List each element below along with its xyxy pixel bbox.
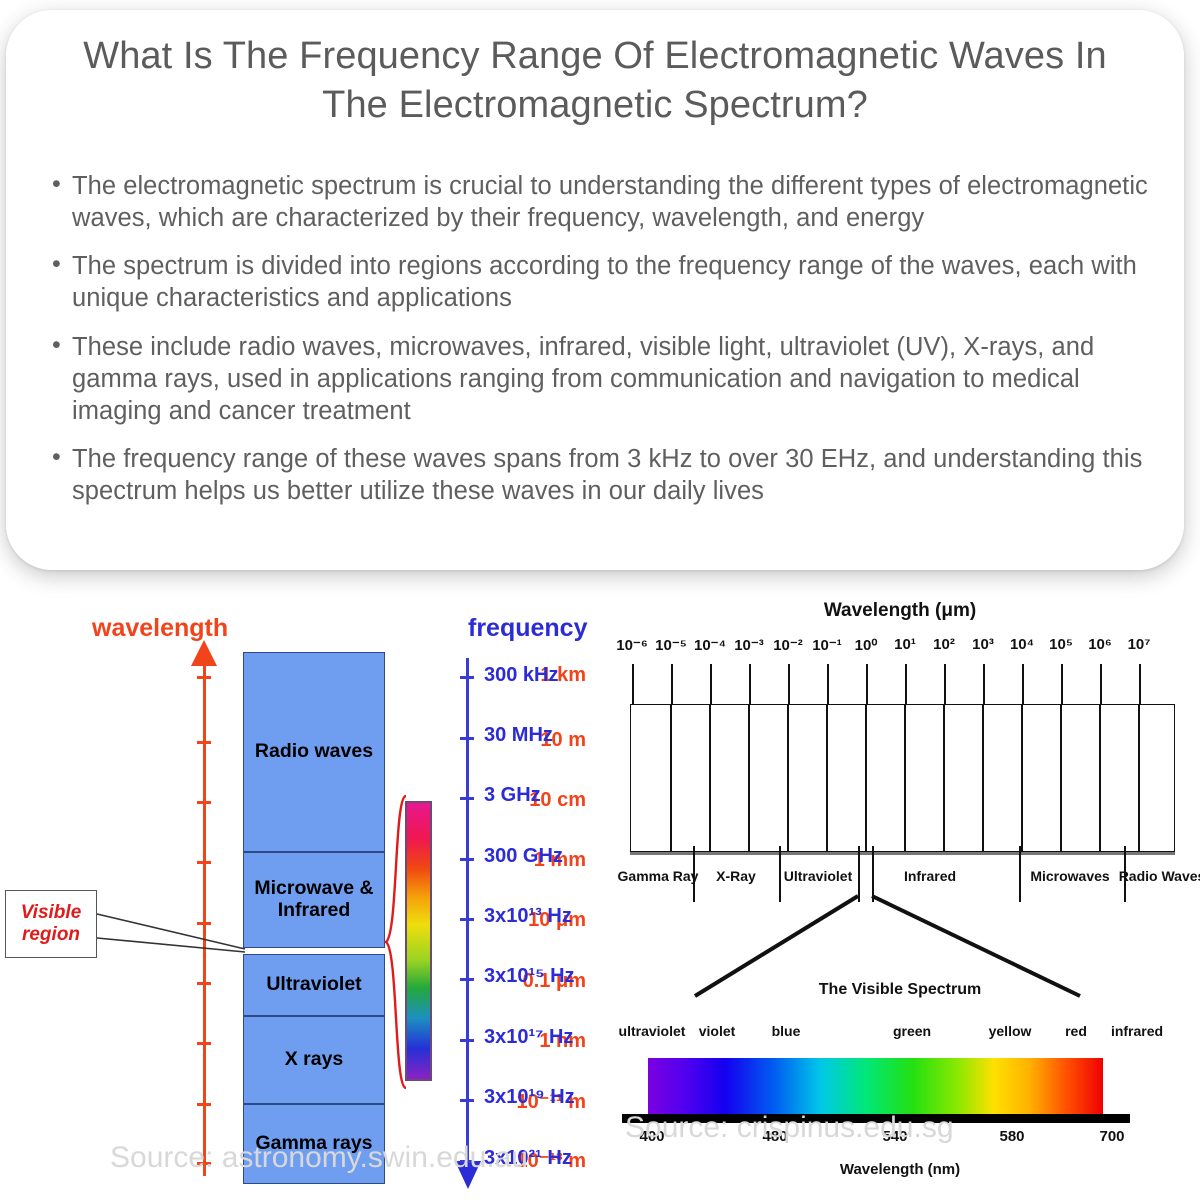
region-separator <box>872 846 874 902</box>
list-item-text: The electromagnetic spectrum is crucial … <box>72 172 1148 232</box>
region-label-x-ray: X-Ray <box>716 868 756 884</box>
region-label-ultraviolet: Ultraviolet <box>784 868 852 884</box>
wavelength-axis-title: wavelength <box>92 614 228 643</box>
frequency-tick <box>460 1039 474 1042</box>
bullet-marker: • <box>52 442 61 474</box>
nm-axis-title: Wavelength (nm) <box>600 1161 1200 1178</box>
wavelength-tick <box>197 741 211 744</box>
wavelength-exponent-label: 10² <box>933 636 955 653</box>
frequency-tick-label: 300 GHz <box>484 845 614 868</box>
list-item-text: The frequency range of these waves spans… <box>72 445 1142 505</box>
wavelength-exponent-label: 10⁻³ <box>734 636 764 654</box>
visible-label-infrared: infrared <box>1111 1023 1163 1039</box>
wavelength-tick <box>197 922 211 925</box>
nm-tick-label: 540 <box>882 1128 907 1145</box>
wavelength-exponent-label: 10⁷ <box>1128 636 1151 653</box>
frequency-tick <box>460 1160 474 1163</box>
region-separator <box>858 846 860 902</box>
wavelength-tick <box>197 982 211 985</box>
right-spectrum-diagram: Wavelength (μm) 10⁻⁶ 10⁻⁵ 10⁻⁴ 10⁻³ 10⁻²… <box>600 596 1200 1200</box>
wavelength-exponent-label: 10⁰ <box>855 636 878 654</box>
region-separator <box>1019 846 1021 902</box>
frequency-tick-label: 3x10¹⁷ Hz <box>484 1026 614 1049</box>
wavelength-tick <box>197 1162 211 1165</box>
wavelength-tick <box>197 1103 211 1106</box>
visible-spectrum-title: The Visible Spectrum <box>600 981 1200 999</box>
wavelength-tick <box>197 1042 211 1045</box>
region-label-gamma-ray: Gamma Ray <box>618 868 699 884</box>
frequency-tick <box>460 1099 474 1102</box>
list-item: • The spectrum is divided into regions a… <box>50 250 1150 314</box>
region-label-infrared: Infrared <box>904 868 956 884</box>
nm-tick-label: 700 <box>1099 1128 1124 1145</box>
frequency-tick-label: 30 MHz <box>484 724 614 747</box>
visible-region-label-line1: Visible <box>21 902 82 924</box>
wavelength-exponent-label: 10¹ <box>894 636 916 653</box>
right-chart-grid <box>630 704 1175 852</box>
region-divider-bar <box>630 852 1175 855</box>
wavelength-exponent-label: 10⁻² <box>773 636 803 654</box>
frequency-tick <box>460 676 474 679</box>
wavelength-exponent-label: 10⁻⁴ <box>694 636 726 654</box>
wavelength-exponent-label: 10⁵ <box>1049 636 1073 653</box>
frequency-tick-label: 300 kHz <box>484 664 614 687</box>
frequency-tick <box>460 737 474 740</box>
frequency-tick-label: 3 GHz <box>484 784 614 807</box>
frequency-tick-label: 3x10¹³ Hz <box>484 905 614 928</box>
wavelength-exponent-label: 10³ <box>972 636 994 653</box>
list-item: • The frequency range of these waves spa… <box>50 443 1150 507</box>
visible-label-ultraviolet: ultraviolet <box>619 1023 686 1039</box>
frequency-tick-label: 3x10¹⁹ Hz <box>484 1086 614 1109</box>
nm-tick-label: 580 <box>999 1128 1024 1145</box>
right-chart-top-ticks <box>630 664 1175 704</box>
visible-label-red: red <box>1065 1023 1087 1039</box>
region-separator <box>779 846 781 902</box>
bullet-marker: • <box>52 249 61 281</box>
list-item: • The electromagnetic spectrum is crucia… <box>50 170 1150 234</box>
wavelength-exponent-label: 10⁶ <box>1088 636 1112 653</box>
wavelength-axis-line <box>203 651 206 1176</box>
frequency-tick <box>460 978 474 981</box>
wavelength-exponent-label: 10⁻¹ <box>812 636 842 654</box>
list-item-text: These include radio waves, microwaves, i… <box>72 333 1094 425</box>
right-chart-title: Wavelength (μm) <box>600 600 1200 622</box>
wavelength-exponent-label: 10⁴ <box>1010 636 1034 653</box>
list-item: • These include radio waves, microwaves,… <box>50 331 1150 427</box>
frequency-tick <box>460 797 474 800</box>
visible-label-blue: blue <box>772 1023 801 1039</box>
frequency-tick-label: 3x10²¹ Hz <box>484 1147 614 1170</box>
frequency-tick-label: 3x10¹⁵ Hz <box>484 965 614 988</box>
content-card-inner: What Is The Frequency Range Of Electroma… <box>6 10 1184 570</box>
wavelength-tick <box>197 801 211 804</box>
list-item-text: The spectrum is divided into regions acc… <box>72 252 1137 312</box>
bullet-marker: • <box>52 330 61 362</box>
region-label-radio-waves: Radio Waves <box>1119 868 1200 884</box>
visible-spectrum-strip <box>405 801 432 1081</box>
visible-region-label-line2: region <box>22 924 80 946</box>
nm-axis-bar <box>622 1114 1130 1123</box>
band-gamma-rays: Gamma rays <box>243 1104 385 1184</box>
band-ultraviolet: Ultraviolet <box>243 954 385 1016</box>
frequency-tick <box>460 918 474 921</box>
frequency-axis-title: frequency <box>468 614 587 643</box>
visible-region-callout: Visible region <box>5 890 97 958</box>
nm-tick-label: 480 <box>762 1128 787 1145</box>
visible-spectrum-rainbow-bar <box>648 1058 1103 1114</box>
right-chart-tick-labels: 10⁻⁶ 10⁻⁵ 10⁻⁴ 10⁻³ 10⁻² 10⁻¹ 10⁰ 10¹ 10… <box>600 636 1200 662</box>
wavelength-exponent-label: 10⁻⁶ <box>616 636 648 654</box>
visible-label-green: green <box>893 1023 931 1039</box>
bullet-marker: • <box>52 169 61 201</box>
bullet-list: • The electromagnetic spectrum is crucia… <box>50 170 1150 523</box>
wavelength-exponent-label: 10⁻⁵ <box>655 636 687 654</box>
visible-label-violet: violet <box>699 1023 736 1039</box>
band-microwave-infrared: Microwave & Infrared <box>243 852 385 948</box>
page-title: What Is The Frequency Range Of Electroma… <box>46 32 1144 129</box>
wavelength-tick <box>197 861 211 864</box>
band-x-rays: X rays <box>243 1016 385 1104</box>
nm-tick-label: 400 <box>639 1128 664 1145</box>
figures-area: wavelength frequency 1 km 10 m 10 cm 1 m… <box>0 596 1200 1200</box>
left-spectrum-diagram: wavelength frequency 1 km 10 m 10 cm 1 m… <box>0 596 600 1200</box>
region-label-microwaves: Microwaves <box>1030 868 1109 884</box>
band-radio-waves: Radio waves <box>243 652 385 852</box>
wavelength-tick <box>197 676 211 679</box>
content-card: What Is The Frequency Range Of Electroma… <box>6 10 1184 570</box>
visible-label-yellow: yellow <box>989 1023 1032 1039</box>
frequency-tick <box>460 858 474 861</box>
